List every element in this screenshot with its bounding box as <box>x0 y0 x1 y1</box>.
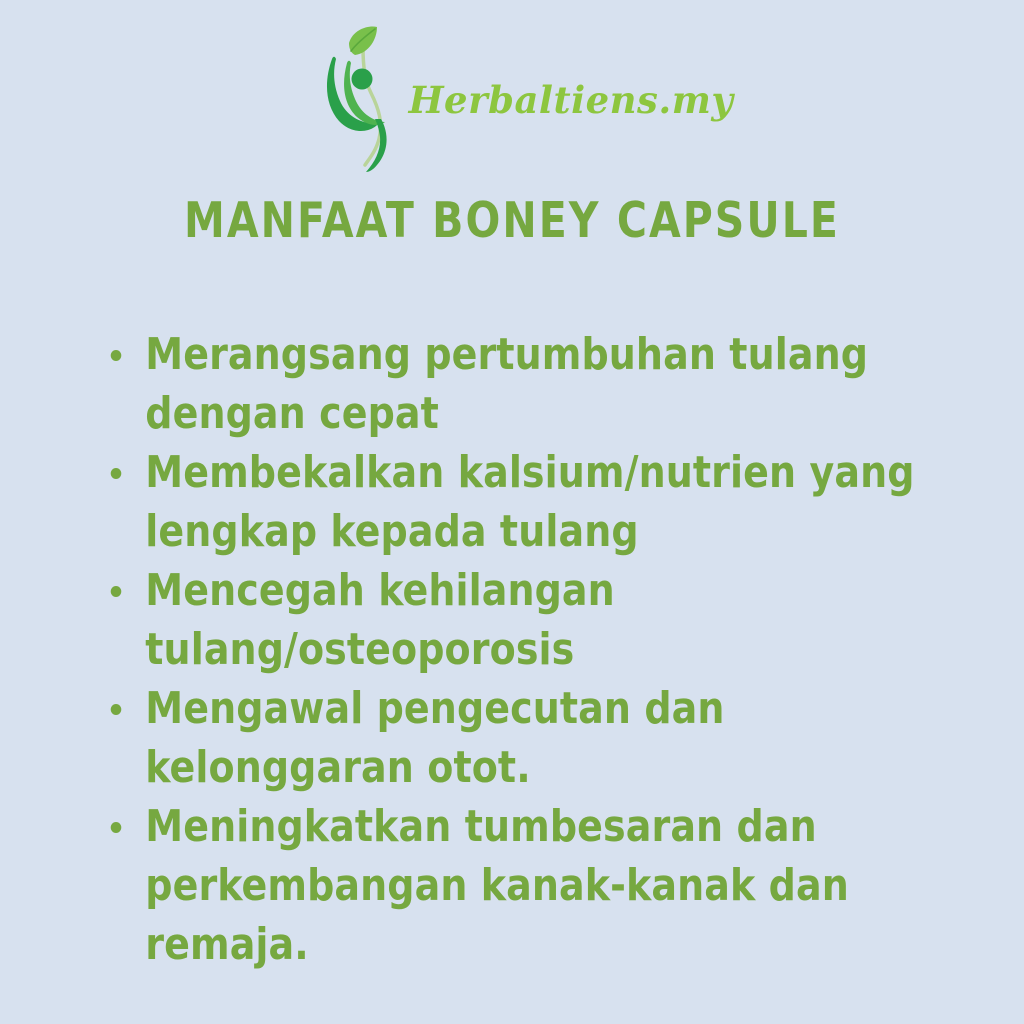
list-item-label: Mengawal pengecutan dan kelonggaran otot… <box>145 679 949 797</box>
list-item: Membekalkan kalsium/nutrien yang lengkap… <box>104 443 949 561</box>
list-item-label: Mencegah kehilangan tulang/osteoporosis <box>145 561 949 679</box>
benefits-list: Merangsang pertumbuhan tulang dengan cep… <box>104 325 984 974</box>
list-item: Mengawal pengecutan dan kelonggaran otot… <box>104 679 949 797</box>
list-item: Merangsang pertumbuhan tulang dengan cep… <box>104 325 949 443</box>
bullet-dot-icon <box>111 468 122 479</box>
list-item-label: Merangsang pertumbuhan tulang dengan cep… <box>145 325 949 443</box>
page-title: MANFAAT BONEY CAPSULE <box>36 196 988 245</box>
bullet-dot-icon <box>111 704 122 715</box>
promo-poster: Herbaltiens.my MANFAAT BONEY CAPSULE Mer… <box>0 0 1024 1024</box>
brand-wordmark: Herbaltiens.my <box>409 78 734 122</box>
list-item-label: Meningkatkan tumbesaran dan perkembangan… <box>145 797 949 974</box>
bullet-dot-icon <box>111 350 122 361</box>
bullet-dot-icon <box>111 586 122 597</box>
list-item: Mencegah kehilangan tulang/osteoporosis <box>104 561 949 679</box>
brand-lockup: Herbaltiens.my <box>0 18 1024 178</box>
leaf-person-logo-icon <box>319 23 405 173</box>
list-item: Meningkatkan tumbesaran dan perkembangan… <box>104 797 949 974</box>
list-item-label: Membekalkan kalsium/nutrien yang lengkap… <box>145 443 949 561</box>
bullet-dot-icon <box>111 822 122 833</box>
